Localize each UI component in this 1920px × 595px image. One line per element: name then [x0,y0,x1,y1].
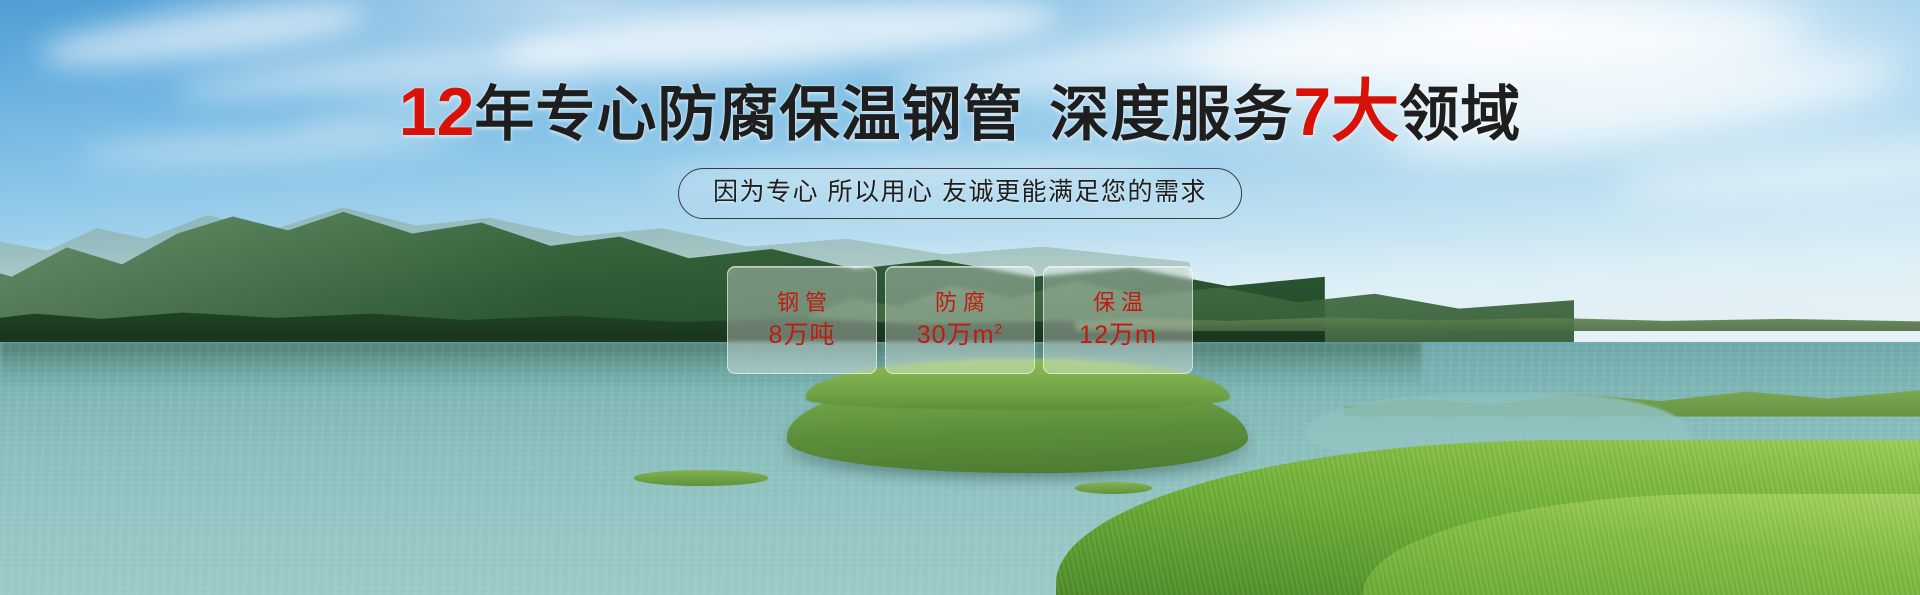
stat-value-base: 12万m [1079,321,1157,349]
banner-subtitle-pill: 因为专心 所以用心 友诚更能满足您的需求 [678,168,1242,219]
stat-card-anticorrosion: 防腐 30万m2 [885,266,1035,374]
stat-card-group: 钢管 8万吨 防腐 30万m2 保温 12万m [727,266,1193,374]
headline-fields-tail: 领域 [1399,81,1521,148]
hero-banner: 12年专心防腐保温钢管深度服务7大领域 因为专心 所以用心 友诚更能满足您的需求… [0,0,1920,595]
headline-fields-accent-char: 大 [1331,74,1399,150]
stat-value: 30万m2 [917,320,1003,350]
headline-fields-number: 7 [1293,74,1331,150]
banner-headline: 12年专心防腐保温钢管深度服务7大领域 [0,78,1920,146]
headline-main-text: 年专心防腐保温钢管 [474,81,1023,148]
stat-value: 12万m [1079,320,1157,350]
stat-value-base: 30万m [917,321,995,349]
headline-service-text: 深度服务 [1049,81,1293,148]
stat-value-base: 8万吨 [769,321,836,349]
headline-years-number: 12 [399,74,475,150]
stat-value: 8万吨 [769,320,836,350]
banner-content: 12年专心防腐保温钢管深度服务7大领域 因为专心 所以用心 友诚更能满足您的需求… [0,0,1920,595]
stat-card-insulation: 保温 12万m [1043,266,1193,374]
stat-label: 钢管 [771,290,833,316]
stat-label: 保温 [1087,290,1149,316]
stat-label: 防腐 [929,290,991,316]
stat-card-steel-pipe: 钢管 8万吨 [727,266,877,374]
stat-value-superscript: 2 [994,321,1003,337]
